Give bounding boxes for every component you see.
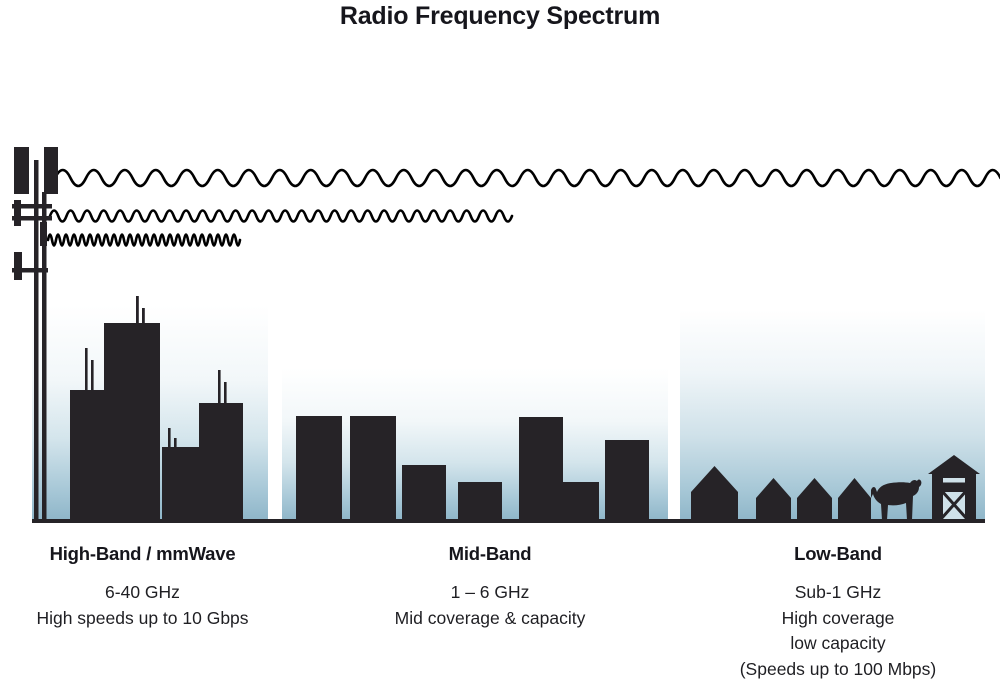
barn-hayloft-window [943,478,965,483]
building-spire [174,438,177,448]
band-detail-coverage: Mid coverage & capacity [330,606,650,632]
band-detail-speed: High speeds up to 10 Gbps [0,606,285,632]
tower-mast-left [34,160,39,520]
medium-frequency-wave [50,211,512,222]
band-detail-capacity: low capacity [676,631,1000,657]
band-detail-speed: (Speeds up to 100 Mbps) [676,657,1000,683]
band-column-mid-band: Mid-Band 1 – 6 GHz Mid coverage & capaci… [330,543,650,631]
building-spire [142,308,145,324]
tower-antenna-panel-top-left [14,147,29,194]
tower-antenna-panel-top-right [44,147,58,194]
building [458,482,502,520]
band-detail-frequency: 6-40 GHz [0,580,285,606]
building-spire [168,428,171,448]
high-frequency-wave [48,235,240,246]
building-spire [218,370,221,404]
band-column-high-band: High-Band / mmWave 6-40 GHz High speeds … [0,543,285,631]
building [605,440,649,520]
tower-antenna-panel-lower [40,222,47,246]
building-spire [85,348,88,392]
tower-antenna-panel-bottom [14,252,22,280]
building [199,403,243,520]
band-title-low-band: Low-Band [676,543,1000,565]
building-spire [224,382,227,404]
band-detail-frequency: 1 – 6 GHz [330,580,650,606]
band-labels: High-Band / mmWave 6-40 GHz High speeds … [0,543,1000,693]
band-column-low-band: Low-Band Sub-1 GHz High coverage low cap… [676,543,1000,682]
band-detail-coverage: High coverage [676,606,1000,632]
building [162,447,204,520]
building [519,417,563,520]
building [104,323,160,520]
building [402,465,446,520]
building-spire [136,296,139,324]
ground-line [32,519,985,523]
building-spire [91,360,94,392]
building [563,482,599,520]
band-detail-frequency: Sub-1 GHz [676,580,1000,606]
low-frequency-wave [55,170,1000,186]
band-title-mid-band: Mid-Band [330,543,650,565]
building [350,416,396,520]
tower-antenna-panel-mid-left [14,200,21,226]
tower-crossbar-lower [12,268,48,273]
tower-crossbar-middle [12,216,52,221]
band-title-high-band: High-Band / mmWave [0,543,285,565]
radio-waves [48,170,1000,246]
building [296,416,342,520]
